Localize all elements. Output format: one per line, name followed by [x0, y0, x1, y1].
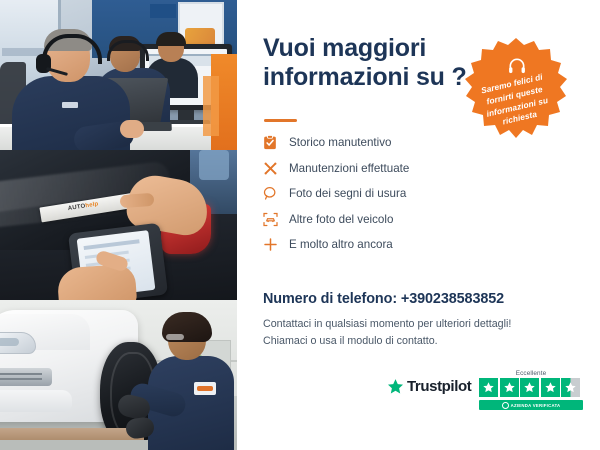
trustpilot-widget[interactable]: Trustpilot Eccellente: [387, 370, 587, 416]
list-item-label: Altre foto del veicolo: [289, 213, 393, 226]
trustpilot-stars: [479, 378, 583, 397]
tools-cross-icon: [263, 161, 289, 176]
verified-check-icon: [502, 402, 509, 409]
call-center-agent-photo: [0, 0, 237, 150]
list-item: Foto dei segni di usura: [263, 181, 513, 207]
wall-sign-decor: [150, 4, 176, 18]
tablet-inspection-photo: AUTOhelp: [0, 150, 237, 300]
phone-number-line[interactable]: Numero di telefono: +390238583852: [263, 291, 504, 307]
contact-description-line-2: Chiamaci o usa il modulo di contatto.: [263, 333, 573, 350]
trustpilot-logo: Trustpilot: [387, 378, 471, 395]
verified-company-badge: AZIENDA VERIFICATA: [479, 400, 583, 410]
contact-description-line-1: Contattaci in qualsiasi momento per ulte…: [263, 316, 573, 333]
list-item-label: Manutenzioni effettuate: [289, 162, 409, 175]
advertisement-banner: AUTOhelp Vuoi: [0, 0, 600, 450]
list-item: Storico manutentivo: [263, 130, 513, 156]
background-sky-decor: [199, 150, 229, 180]
list-item: Manutenzioni effettuate: [263, 156, 513, 182]
trustpilot-star-icon: [387, 378, 404, 395]
trustpilot-rating: Eccellente: [479, 370, 583, 410]
orange-panel-decor: [211, 54, 237, 150]
mechanic-wheel-photo: [0, 300, 237, 450]
list-item-label: Foto dei segni di usura: [289, 187, 406, 200]
plus-icon: [263, 237, 289, 252]
finger-decor: [120, 193, 155, 208]
list-item: E molto altro ancora: [263, 232, 513, 258]
star-filled-icon: [500, 378, 519, 397]
contact-description: Contattaci in qualsiasi momento per ulte…: [263, 316, 573, 349]
clipboard-check-icon: [263, 135, 289, 150]
list-item-label: Storico manutentivo: [289, 136, 391, 149]
title-underline-rule: [264, 119, 297, 122]
mechanic-person-decor: [148, 316, 234, 450]
page-title: Vuoi maggiori informazioni su ?: [263, 34, 493, 93]
photo-column: AUTOhelp: [0, 0, 237, 450]
magnifier-icon: [263, 186, 289, 201]
content-panel: Vuoi maggiori informazioni su ? Saremo f…: [237, 0, 600, 450]
trustpilot-rating-caption: Eccellente: [479, 370, 583, 377]
verified-company-label: AZIENDA VERIFICATA: [511, 403, 561, 408]
list-item: Altre foto del veicolo: [263, 207, 513, 233]
star-filled-icon: [479, 378, 498, 397]
star-filled-icon: [520, 378, 539, 397]
car-frame-icon: [263, 212, 289, 227]
trustpilot-wordmark: Trustpilot: [407, 378, 471, 395]
foreground-agent-decor: [16, 32, 128, 150]
star-half-icon: [561, 378, 580, 397]
page-title-line-2: informazioni su ?: [263, 63, 493, 92]
feature-list: Storico manutentivo Manutenzioni effettu…: [263, 130, 513, 258]
headset-icon: [507, 56, 527, 76]
list-item-label: E molto altro ancora: [289, 238, 393, 251]
star-filled-icon: [541, 378, 560, 397]
page-title-line-1: Vuoi maggiori: [263, 34, 493, 63]
